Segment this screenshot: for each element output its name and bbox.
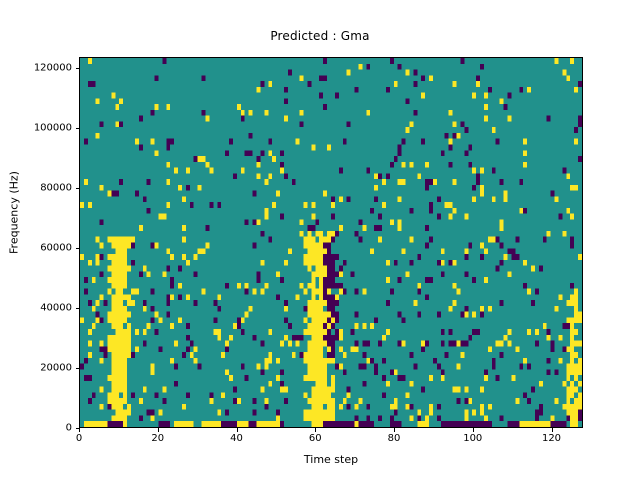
x-tick-mark [79, 428, 80, 432]
x-tick-mark [473, 428, 474, 432]
heatmap-image [80, 58, 582, 427]
y-axis-label: Frequency (Hz) [8, 113, 21, 313]
y-tick-mark [76, 428, 80, 429]
y-tick-label: 20000 [40, 363, 72, 374]
x-tick-mark [237, 428, 238, 432]
y-tick-mark [76, 68, 80, 69]
x-tick-mark [158, 428, 159, 432]
x-tick-label: 80 [388, 433, 401, 444]
x-axis-label: Time step [79, 453, 583, 466]
y-tick-label: 40000 [40, 303, 72, 314]
y-tick-mark [76, 368, 80, 369]
x-tick-label: 60 [309, 433, 322, 444]
page-title: Predicted : Gma [0, 29, 640, 43]
x-tick-mark [315, 428, 316, 432]
heatmap-plot-area [79, 57, 583, 428]
x-tick-label: 120 [542, 433, 561, 444]
x-tick-mark [394, 428, 395, 432]
x-tick-label: 100 [463, 433, 482, 444]
x-tick-label: 0 [76, 433, 82, 444]
figure-canvas: Predicted : Gma Time step Frequency (Hz)… [0, 0, 640, 480]
y-tick-mark [76, 188, 80, 189]
y-tick-mark [76, 248, 80, 249]
y-tick-label: 60000 [40, 243, 72, 254]
x-tick-label: 20 [151, 433, 164, 444]
y-tick-mark [76, 308, 80, 309]
y-tick-label: 120000 [34, 63, 72, 74]
y-tick-label: 0 [66, 423, 72, 434]
y-tick-mark [76, 128, 80, 129]
y-tick-label: 100000 [34, 123, 72, 134]
x-tick-label: 40 [230, 433, 243, 444]
x-tick-mark [552, 428, 553, 432]
y-tick-label: 80000 [40, 183, 72, 194]
